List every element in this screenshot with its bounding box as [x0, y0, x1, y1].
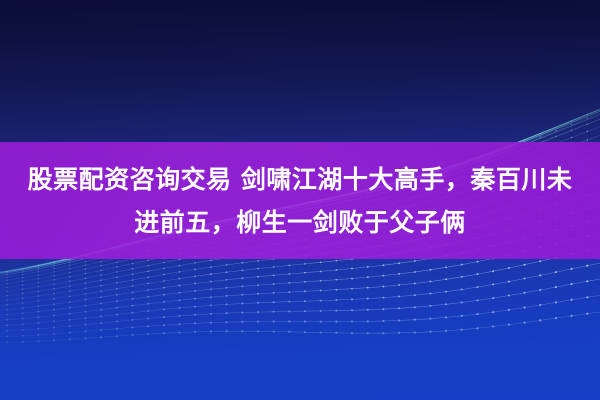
banner-image: 股票配资咨询交易 剑啸江湖十大高手，秦百川未 进前五，柳生一剑败于父子俩 [0, 0, 600, 400]
title-line-1: 股票配资咨询交易 剑啸江湖十大高手，秦百川未 [28, 158, 573, 201]
title-overlay-band: 股票配资咨询交易 剑啸江湖十大高手，秦百川未 进前五，柳生一剑败于父子俩 [0, 142, 600, 259]
title-line-2: 进前五，柳生一剑败于父子俩 [134, 201, 466, 244]
